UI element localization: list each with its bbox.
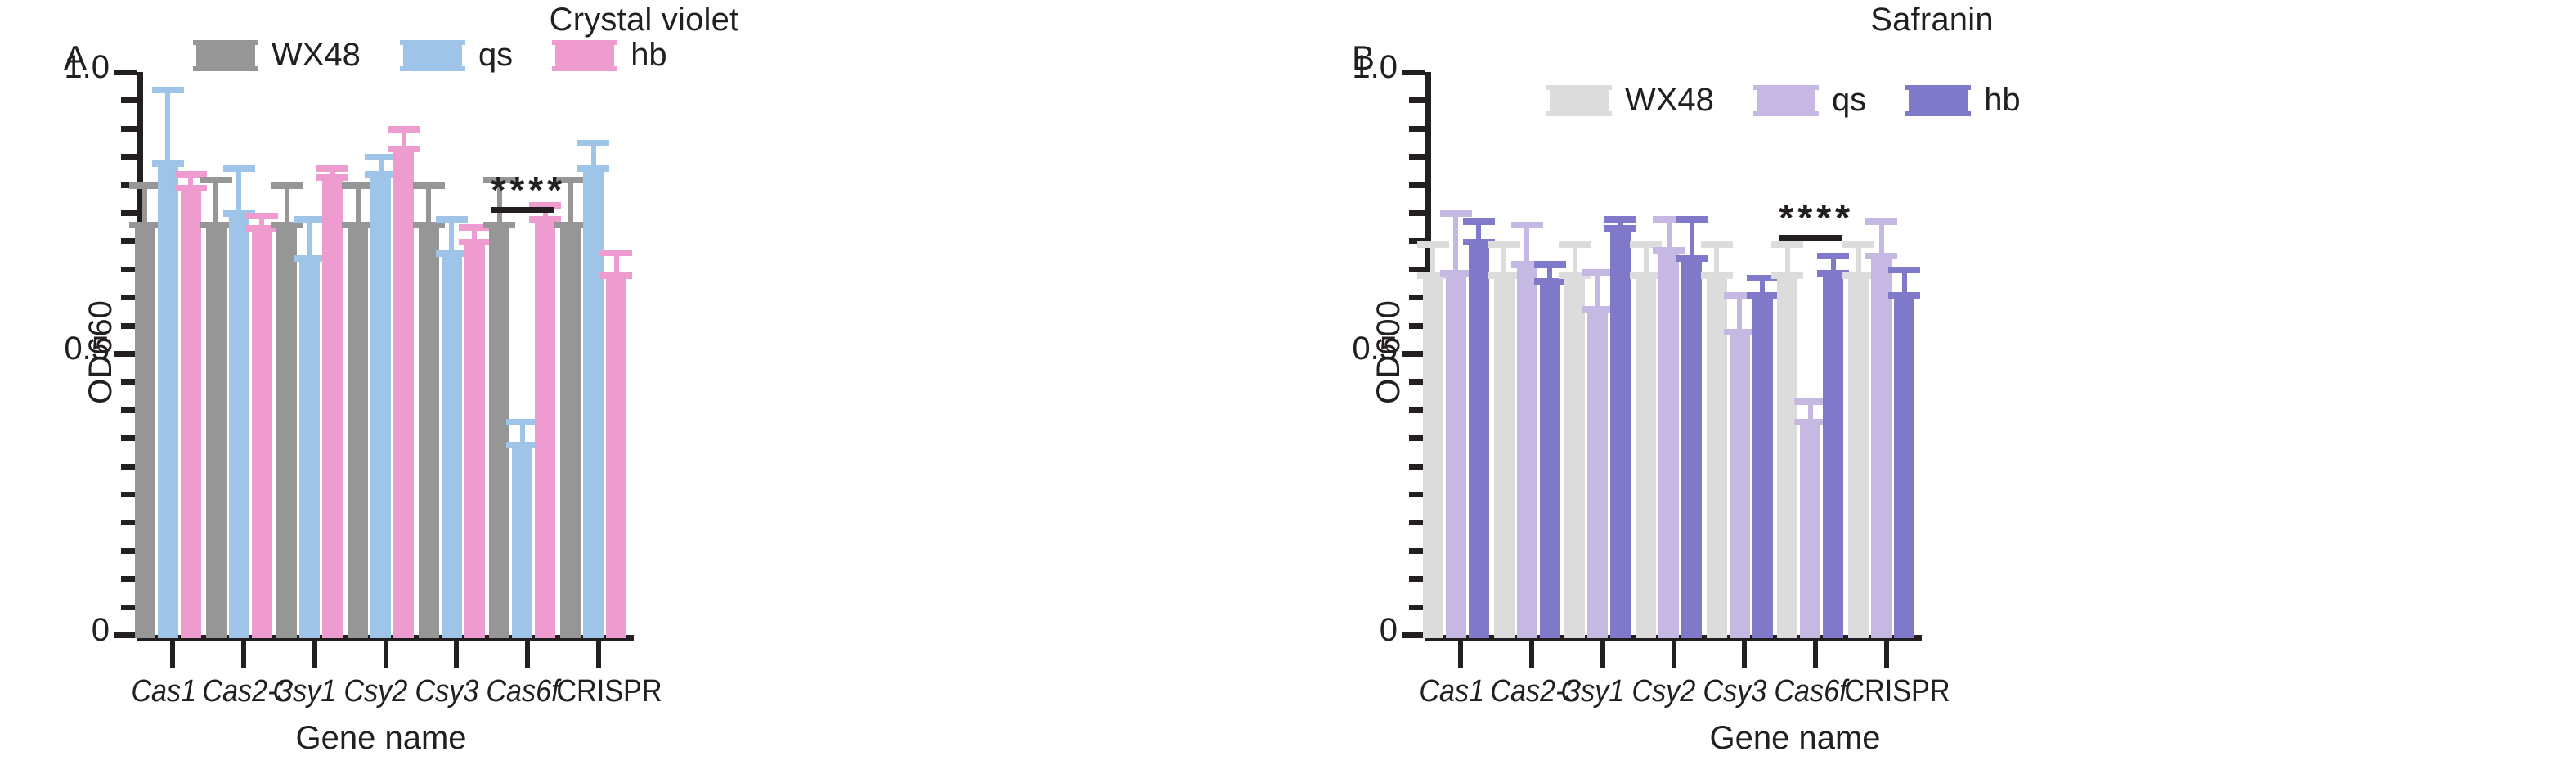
y-axis-major-tick — [114, 70, 137, 75]
x-axis-category-tick — [1884, 641, 1889, 668]
bar-qs-Csy1 — [1587, 311, 1608, 638]
x-tick-label-Cas6f: Cas6f — [486, 674, 550, 709]
error-bar-cap — [413, 182, 445, 189]
bar-hb-Csy1 — [322, 179, 343, 638]
y-tick-label: 0 — [1380, 612, 1398, 649]
y-tick-label: 0.5 — [64, 331, 110, 367]
x-tick-label-Csy2: Csy2 — [1631, 674, 1695, 709]
error-bar-stem — [165, 89, 170, 165]
y-axis-minor-tick — [121, 126, 137, 132]
bar-hb-Csy2 — [393, 151, 414, 638]
bar-hb-Cas6f — [535, 221, 555, 638]
x-axis-category-tick — [454, 641, 459, 668]
significance-annotation: **** — [1779, 196, 1842, 245]
x-tick-label-CRISPR: CRISPR — [1845, 674, 1909, 709]
error-bar-stem — [213, 179, 218, 227]
bar-WX48-CRISPR — [560, 227, 581, 638]
bar-WX48-Cas6f — [489, 227, 509, 638]
x-tick-label-Csy3: Csy3 — [1703, 674, 1766, 709]
x-axis-category-tick — [241, 641, 246, 668]
bar-hb-CRISPR — [606, 277, 626, 638]
y-axis-minor-tick — [1409, 126, 1425, 132]
error-bar-cap — [200, 177, 232, 183]
y-tick-label: 1.0 — [1352, 49, 1398, 86]
error-bar-cap — [365, 154, 397, 160]
x-axis-category-tick — [1672, 641, 1676, 668]
figure-root: Crystal violet A OD660 Gene name WX48qsh… — [0, 0, 2576, 774]
error-bar-cap — [388, 126, 420, 133]
x-tick-label-Cas1: Cas1 — [131, 674, 195, 709]
error-bar-stem — [1690, 218, 1694, 261]
bar-WX48-Cas1 — [1423, 277, 1443, 638]
error-bar-stem — [236, 168, 241, 215]
y-axis-major-tick — [114, 351, 137, 357]
x-axis-category-tick — [525, 641, 530, 668]
bar-qs-CRISPR — [583, 170, 604, 638]
error-bar-stem — [1524, 224, 1529, 267]
error-bar-cap — [271, 182, 303, 189]
x-tick-label-Cas2-3: Cas2-3 — [1490, 674, 1554, 709]
x-tick-label-Csy1: Csy1 — [273, 674, 337, 709]
error-bar-stem — [1644, 244, 1649, 277]
error-bar-cap — [1676, 216, 1708, 223]
bar-WX48-Cas6f — [1777, 277, 1797, 638]
bar-hb-Cas1 — [181, 190, 201, 638]
bar-WX48-Csy1 — [276, 227, 297, 638]
y-axis-major-tick — [1402, 70, 1425, 75]
error-bar-stem — [1430, 244, 1435, 277]
error-bar-cap — [1701, 241, 1733, 248]
error-bar-stem — [1737, 295, 1742, 334]
x-axis-category-tick — [1742, 641, 1747, 668]
error-bar-stem — [356, 185, 361, 227]
x-axis-category-tick — [596, 641, 601, 668]
error-bar-cap — [1559, 241, 1591, 248]
significance-stars: **** — [1779, 196, 1842, 240]
error-bar-cap — [1888, 267, 1920, 273]
bar-qs-Cas6f — [1800, 424, 1820, 638]
bar-WX48-Csy3 — [419, 227, 439, 638]
bar-qs-Csy3 — [442, 255, 462, 638]
error-bar-cap — [316, 165, 348, 172]
error-bar-stem — [1714, 244, 1719, 277]
x-axis-category-tick — [1600, 641, 1605, 668]
error-bar-cap — [129, 182, 161, 189]
bar-hb-CRISPR — [1894, 297, 1914, 638]
bar-WX48-Csy2 — [1636, 277, 1656, 638]
error-bar-cap — [342, 182, 374, 189]
y-axis-minor-tick — [121, 154, 137, 160]
error-bar-cap — [600, 250, 632, 256]
error-bar-cap — [1604, 216, 1636, 223]
y-axis-minor-tick — [1409, 267, 1425, 272]
bar-qs-Csy2 — [1658, 252, 1679, 638]
panel-a-plot: 00.51.0Cas1Cas2-3Csy1Csy2Csy3Cas6fCRISPR… — [0, 0, 1288, 774]
y-axis-minor-tick — [1409, 97, 1425, 103]
x-axis-category-tick — [1529, 641, 1534, 668]
bar-WX48-Csy1 — [1564, 277, 1585, 638]
significance-annotation: **** — [491, 168, 554, 217]
error-bar-stem — [1902, 269, 1907, 297]
x-tick-label-Cas1: Cas1 — [1419, 674, 1483, 709]
y-axis-major-tick — [114, 632, 137, 638]
error-bar-stem — [591, 142, 596, 170]
bar-hb-Cas2-3 — [252, 230, 272, 638]
error-bar-stem — [1501, 244, 1506, 277]
y-axis-major-tick — [1402, 351, 1425, 357]
x-axis-category-tick — [1458, 641, 1463, 668]
bar-WX48-Cas1 — [135, 227, 155, 638]
significance-stars: **** — [491, 168, 554, 212]
bar-qs-Cas2-3 — [1517, 266, 1537, 638]
bar-qs-CRISPR — [1871, 258, 1892, 638]
error-bar-stem — [142, 185, 147, 227]
bar-WX48-Csy2 — [348, 227, 368, 638]
x-tick-label-Csy2: Csy2 — [343, 674, 407, 709]
bar-qs-Csy3 — [1730, 334, 1750, 638]
y-tick-label: 0.5 — [1352, 331, 1398, 367]
x-tick-label-Cas2-3: Cas2-3 — [202, 674, 266, 709]
error-bar-cap — [1817, 253, 1849, 259]
error-bar-stem — [568, 179, 573, 227]
error-bar-stem — [449, 218, 454, 255]
error-bar-cap — [223, 165, 255, 172]
error-bar-cap — [506, 419, 538, 425]
error-bar-cap — [577, 140, 609, 146]
error-bar-stem — [1573, 244, 1577, 277]
bar-WX48-Cas2-3 — [1494, 277, 1515, 638]
error-bar-stem — [307, 218, 312, 261]
x-tick-label-CRISPR: CRISPR — [557, 674, 621, 709]
y-axis-minor-tick — [1409, 182, 1425, 188]
x-tick-label-Csy3: Csy3 — [415, 674, 478, 709]
x-tick-label-Cas6f: Cas6f — [1774, 674, 1838, 709]
bar-qs-Csy2 — [370, 176, 391, 638]
bar-WX48-Cas2-3 — [206, 227, 227, 638]
error-bar-cap — [1582, 269, 1613, 276]
error-bar-cap — [152, 87, 184, 93]
error-bar-cap — [1511, 222, 1543, 228]
error-bar-stem — [1856, 244, 1861, 277]
y-axis-minor-tick — [1409, 154, 1425, 160]
panel-b-plot: 00.51.0Cas1Cas2-3Csy1Csy2Csy3Cas6fCRISPR… — [1288, 0, 2576, 774]
bar-hb-Csy3 — [1752, 297, 1773, 638]
error-bar-stem — [1453, 213, 1458, 275]
bar-hb-Cas2-3 — [1540, 283, 1560, 638]
error-bar-cap — [1842, 241, 1874, 248]
bar-qs-Csy1 — [299, 260, 320, 638]
error-bar-cap — [246, 213, 278, 219]
bar-hb-Cas1 — [1469, 244, 1489, 638]
error-bar-cap — [294, 216, 325, 223]
bar-qs-Cas6f — [512, 447, 532, 638]
error-bar-stem — [285, 185, 289, 227]
error-bar-stem — [1595, 272, 1600, 311]
bar-hb-Csy3 — [464, 244, 485, 638]
panel-b: Safranin B OD600 Gene name WX48qshb 00.5… — [1288, 0, 2576, 774]
error-bar-cap — [1440, 210, 1472, 217]
y-axis-major-tick — [1402, 632, 1425, 638]
bar-qs-Cas1 — [158, 165, 178, 638]
y-tick-label: 0 — [92, 612, 110, 649]
x-axis-category-tick — [1813, 641, 1818, 668]
error-bar-cap — [1463, 218, 1495, 225]
x-axis-category-tick — [170, 641, 175, 668]
bar-WX48-CRISPR — [1848, 277, 1869, 638]
error-bar-cap — [1417, 241, 1449, 248]
error-bar-cap — [1865, 218, 1897, 225]
error-bar-stem — [1667, 218, 1672, 252]
bar-qs-Cas1 — [1446, 275, 1466, 638]
bar-hb-Cas6f — [1823, 275, 1843, 638]
error-bar-cap — [436, 216, 468, 223]
x-tick-label-Csy1: Csy1 — [1561, 674, 1625, 709]
error-bar-stem — [426, 185, 431, 227]
bar-hb-Csy2 — [1681, 260, 1702, 638]
bar-qs-Cas2-3 — [229, 215, 249, 638]
error-bar-cap — [1794, 398, 1826, 405]
x-axis-category-tick — [384, 641, 388, 668]
panel-a: Crystal violet A OD660 Gene name WX48qsh… — [0, 0, 1288, 774]
error-bar-stem — [1879, 221, 1884, 258]
y-tick-label: 1.0 — [64, 49, 110, 86]
bar-hb-Csy1 — [1610, 230, 1631, 638]
y-axis-minor-tick — [121, 97, 137, 103]
error-bar-cap — [1488, 241, 1520, 248]
y-axis-minor-tick — [1409, 210, 1425, 216]
error-bar-cap — [1534, 261, 1566, 268]
error-bar-stem — [1785, 244, 1790, 277]
x-axis-category-tick — [312, 641, 317, 668]
y-axis-minor-tick — [121, 210, 137, 216]
